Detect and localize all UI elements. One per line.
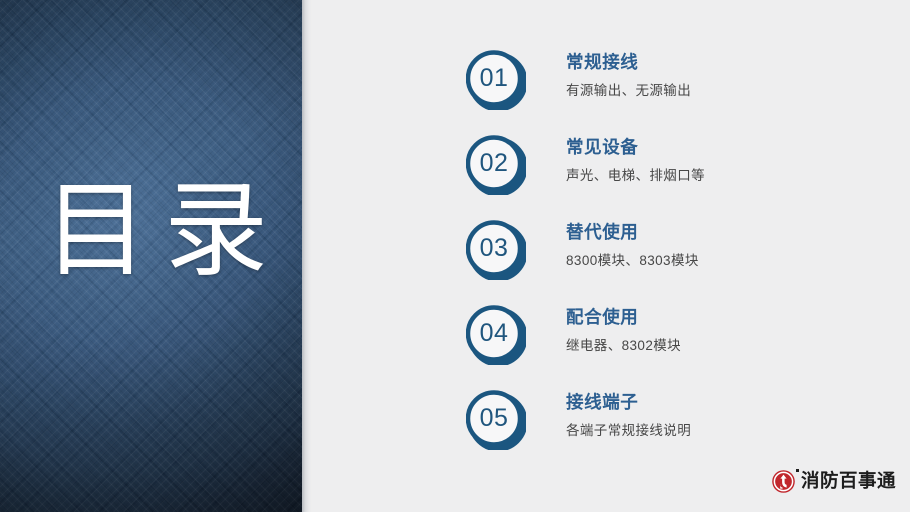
toc-item-subtitle: 8300模块、8303模块 bbox=[566, 252, 886, 270]
number-badge-04: 04 bbox=[466, 305, 526, 365]
number-badge-03: 03 bbox=[466, 220, 526, 280]
panel-edge-shadow bbox=[302, 0, 312, 512]
toc-item-subtitle: 声光、电梯、排烟口等 bbox=[566, 167, 886, 185]
toc-item-text-02: 常见设备 声光、电梯、排烟口等 bbox=[566, 136, 886, 184]
number-badge-02: 02 bbox=[466, 135, 526, 195]
badge-number-label: 01 bbox=[466, 50, 522, 107]
toc-item-title: 替代使用 bbox=[566, 221, 886, 244]
slide-canvas: 目录 01 常规接线 有源输出、无源输出 bbox=[0, 0, 910, 512]
toc-item-05[interactable]: 05 接线端子 各端子常规接线说明 bbox=[466, 390, 896, 475]
number-badge-05: 05 bbox=[466, 390, 526, 450]
badge-number-label: 05 bbox=[466, 390, 522, 447]
badge-number-label: 02 bbox=[466, 135, 522, 192]
brand-logo: 消防百事通 bbox=[771, 469, 896, 494]
number-badge-01: 01 bbox=[466, 50, 526, 110]
logo-wordmark: 消防百事通 bbox=[801, 472, 896, 491]
toc-item-04[interactable]: 04 配合使用 继电器、8302模块 bbox=[466, 305, 896, 390]
badge-number-label: 03 bbox=[466, 220, 522, 277]
logo-accent-dot bbox=[796, 469, 799, 472]
toc-item-subtitle: 各端子常规接线说明 bbox=[566, 422, 886, 440]
toc-item-text-05: 接线端子 各端子常规接线说明 bbox=[566, 391, 886, 439]
badge-number-label: 04 bbox=[466, 305, 522, 362]
fire-safety-circle-arrow-icon bbox=[771, 469, 796, 494]
toc-item-text-01: 常规接线 有源输出、无源输出 bbox=[566, 51, 886, 99]
toc-item-title: 常见设备 bbox=[566, 136, 886, 159]
toc-item-title: 配合使用 bbox=[566, 306, 886, 329]
toc-item-02[interactable]: 02 常见设备 声光、电梯、排烟口等 bbox=[466, 135, 896, 220]
table-of-contents: 01 常规接线 有源输出、无源输出 02 常见设备 声光、电梯、排烟口等 bbox=[466, 50, 896, 475]
page-title: 目录 bbox=[44, 175, 284, 287]
toc-item-text-03: 替代使用 8300模块、8303模块 bbox=[566, 221, 886, 269]
toc-item-text-04: 配合使用 继电器、8302模块 bbox=[566, 306, 886, 354]
toc-item-subtitle: 有源输出、无源输出 bbox=[566, 82, 886, 100]
toc-item-title: 接线端子 bbox=[566, 391, 886, 414]
toc-item-title: 常规接线 bbox=[566, 51, 886, 74]
toc-item-03[interactable]: 03 替代使用 8300模块、8303模块 bbox=[466, 220, 896, 305]
toc-item-01[interactable]: 01 常规接线 有源输出、无源输出 bbox=[466, 50, 896, 135]
toc-item-subtitle: 继电器、8302模块 bbox=[566, 337, 886, 355]
